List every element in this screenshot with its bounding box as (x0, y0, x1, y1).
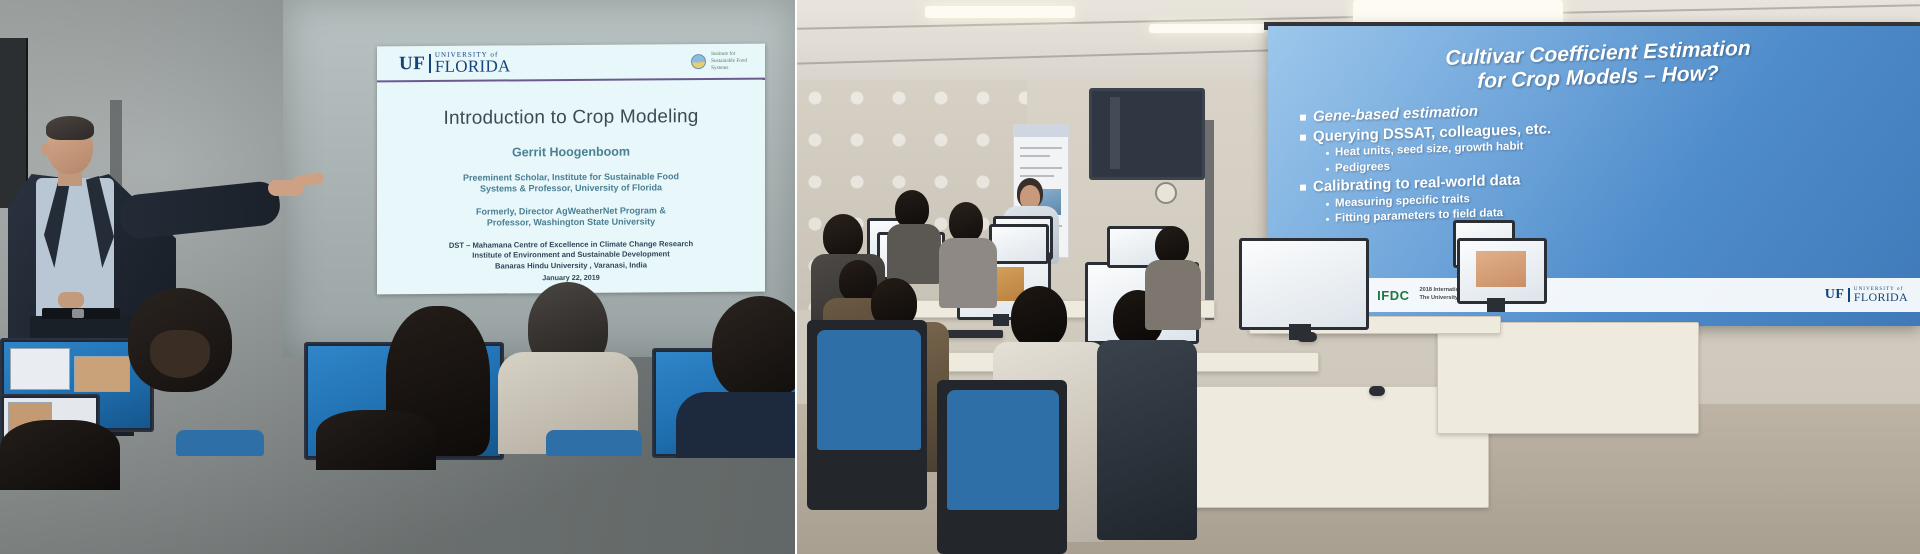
chair (176, 430, 264, 456)
presenter-hair (46, 116, 94, 140)
chair-back (947, 390, 1059, 510)
chair-back (817, 330, 921, 450)
square-bullet-icon (1300, 185, 1306, 191)
globe-icon (691, 54, 706, 69)
bullet-text: Pedigrees (1335, 160, 1390, 177)
left-photo: UF UNIVERSITY of FLORIDA Institute for S… (0, 0, 797, 554)
projected-slide-left: UF UNIVERSITY of FLORIDA Institute for S… (377, 44, 765, 295)
chair (546, 430, 642, 456)
wall-clock-icon (1155, 182, 1177, 204)
presenter-pointing-hand (268, 172, 322, 204)
slide-affiliation-4: Professor, Washington State University (391, 216, 751, 229)
presenter-resting-hand (58, 292, 84, 308)
right-slide-bullet-list: Gene-based estimation Querying DSSAT, co… (1300, 88, 1902, 229)
monitor-stand (993, 314, 1009, 326)
dot-bullet-icon (1326, 218, 1329, 221)
slide-title: Introduction to Crop Modeling (391, 106, 751, 131)
workstation-monitor (1239, 238, 1369, 330)
workstation-monitor (989, 224, 1049, 264)
footer-uf-line2: FLORIDA (1854, 291, 1908, 303)
keyboard (947, 330, 1003, 338)
footer-uf-mark: UF (1825, 288, 1845, 302)
screenshot-stage: UF UNIVERSITY of FLORIDA Institute for S… (0, 0, 1920, 554)
desk (1437, 322, 1699, 434)
ifdc-logo-text: IFDC (1377, 288, 1409, 303)
uf-logo-line2: FLORIDA (435, 57, 511, 75)
isfs-logo: Institute for Sustainable Food Systems (691, 51, 747, 72)
dot-bullet-icon (1326, 152, 1329, 155)
mouse (1297, 332, 1317, 342)
wall-display (1089, 88, 1205, 180)
slide-presenter-name: Gerrit Hoogenboom (391, 144, 751, 161)
audience-head (0, 420, 120, 490)
slide-host-3: Banaras Hindu University , Varanasi, Ind… (391, 260, 751, 273)
support-pole (1205, 120, 1214, 320)
dot-bullet-icon (1326, 203, 1329, 206)
uf-florida-logo: UF UNIVERSITY of FLORIDA (399, 51, 511, 75)
presenter-pointing-arm (118, 180, 282, 240)
workstation-monitor (1457, 238, 1547, 304)
isfs-line2: Sustainable Food (711, 58, 747, 65)
belt-buckle (72, 309, 84, 318)
mouse (1369, 386, 1385, 396)
isfs-line3: Systems (711, 65, 747, 72)
slide-affiliation-2: Systems & Professor, University of Flori… (391, 182, 751, 195)
uf-logo-divider (429, 54, 431, 73)
right-photo: Cultivar Coefficient Estimation for Crop… (797, 0, 1920, 554)
audience-head (316, 410, 436, 470)
monitor-stand (1487, 298, 1505, 312)
audience-hair (150, 330, 210, 378)
square-bullet-icon (1300, 134, 1306, 140)
ceiling-light (925, 6, 1075, 18)
dot-bullet-icon (1326, 168, 1329, 171)
presenter-ear (41, 143, 50, 156)
audience-body (676, 392, 797, 458)
square-bullet-icon (1300, 115, 1306, 121)
uf-logo-mark: UF (399, 54, 425, 73)
ceiling-light (1149, 24, 1265, 33)
slide-header: UF UNIVERSITY of FLORIDA Institute for S… (377, 44, 765, 83)
audience-head (712, 296, 797, 400)
footer-uf-logo: UF UNIVERSITY of FLORIDA (1825, 287, 1908, 303)
